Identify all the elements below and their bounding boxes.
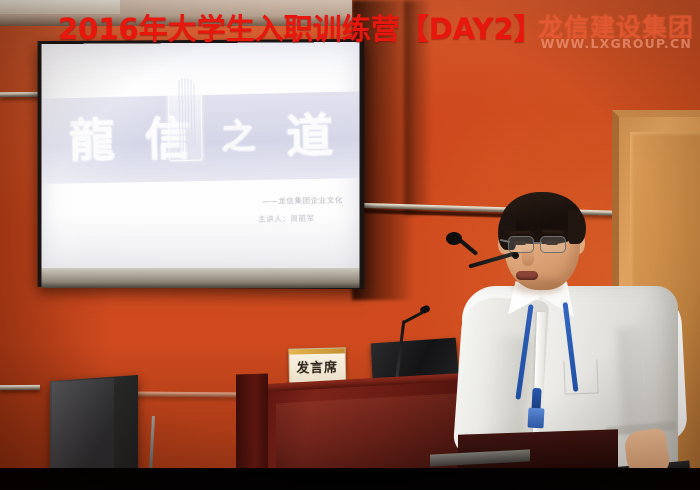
placard-label: 发言席 [296, 356, 338, 376]
eyeglasses-bridge [534, 242, 542, 244]
projection-screen: 龍 信 之 道 ——龙信集团企业文化 主讲人：周丽军 [41, 42, 359, 281]
headset-microphone-capsule [446, 232, 462, 245]
placard-gold-trim [289, 348, 344, 354]
slide-char-1: 龍 [69, 117, 113, 164]
mouth [516, 271, 538, 280]
metal-reveal-strip-lower-left [0, 385, 40, 390]
slide-char-3: 之 [221, 120, 254, 155]
slide-seal-ornament [167, 69, 203, 162]
slide-subtitle: ——龙信集团企业文化 [262, 195, 343, 207]
watermark-url: WWW.LXGROUP.CN [541, 36, 692, 51]
slide-char-4: 道 [286, 112, 331, 159]
eyeglasses-right-lens [540, 236, 566, 253]
slide-calligraphy-title: 龍 信 之 道 [62, 96, 343, 180]
photo-scene: 龍 信 之 道 ——龙信集团企业文化 主讲人：周丽军 发言席 [0, 0, 700, 490]
nose [522, 248, 534, 266]
bottom-black-bar [0, 468, 700, 490]
projection-screen-bottom-bar [41, 268, 359, 288]
id-badge [527, 408, 544, 429]
slide-presenter-line: 主讲人：周丽军 [258, 213, 315, 225]
headset-microphone-tip [512, 252, 519, 259]
podium-placard: 发言席 [288, 347, 346, 384]
shirt-chest-pocket [563, 359, 598, 394]
overlay-headline: 2016年大学生入职训练营【DAY2】 [58, 6, 543, 48]
chin-shadow [512, 278, 564, 294]
hair-right-side [568, 210, 586, 244]
